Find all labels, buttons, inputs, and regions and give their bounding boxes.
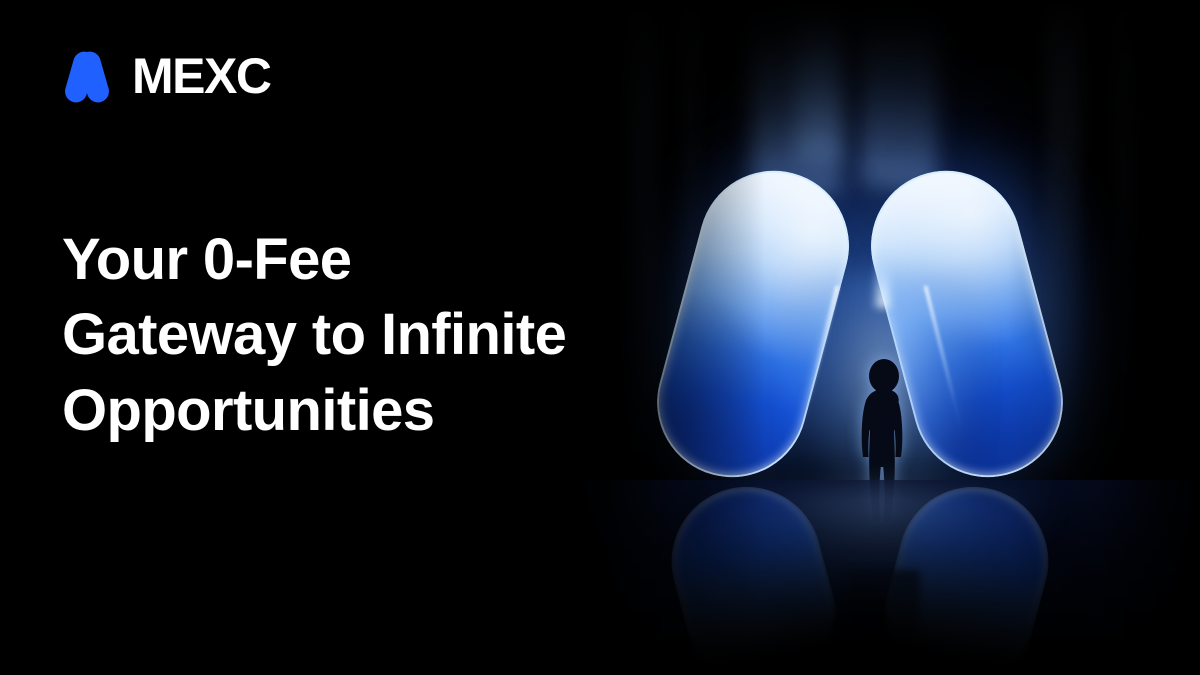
mexc-m-logo-icon [60,50,116,102]
brand-wordmark: MEXC [132,51,270,101]
headline-line-3: Opportunities [62,373,682,448]
headline-line-1: Your 0-Fee [62,222,682,297]
promo-banner: MEXC Your 0-Fee Gateway to Infinite Oppo… [0,0,1200,675]
headline-line-2: Gateway to Infinite [62,297,682,372]
brand-logo[interactable]: MEXC [60,50,270,102]
page-title: Your 0-Fee Gateway to Infinite Opportuni… [62,222,682,448]
